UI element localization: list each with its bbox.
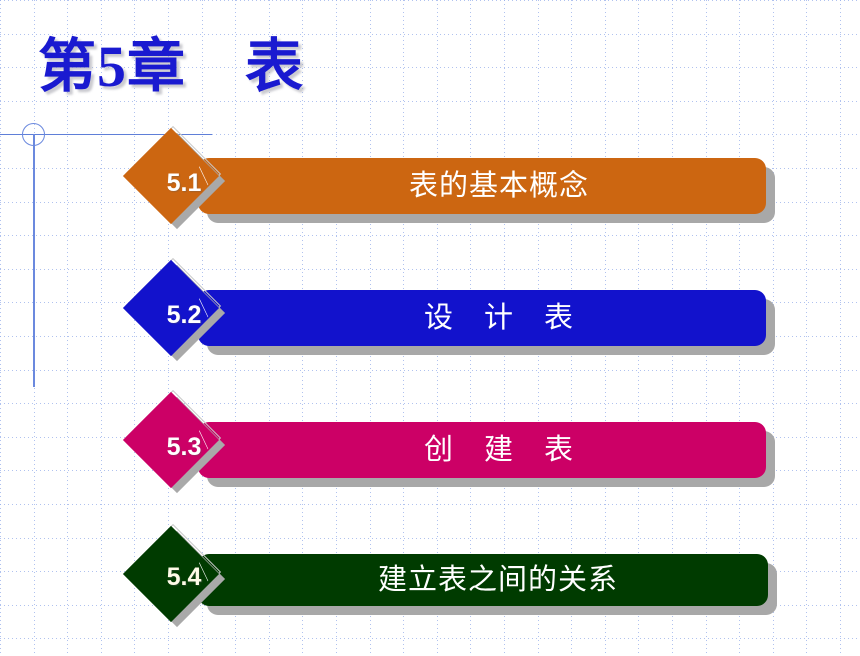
tick-mark-icon: ＼ [198, 563, 209, 583]
section-bar[interactable]: 设 计 表 [198, 290, 766, 346]
section-row[interactable]: 表的基本概念 5.1 ＼ [0, 146, 860, 266]
section-label: 设 计 表 [424, 304, 574, 333]
section-bar[interactable]: 建立表之间的关系 [198, 554, 768, 606]
grid-line-horizontal [0, 538, 860, 539]
section-number: 5.3 [132, 400, 228, 496]
section-bar[interactable]: 表的基本概念 [198, 158, 766, 214]
grid-line-horizontal [0, 0, 860, 1]
section-row[interactable]: 建立表之间的关系 5.4 ＼ [0, 544, 860, 656]
section-row[interactable]: 设 计 表 5.2 ＼ [0, 278, 860, 398]
section-number: 5.2 [132, 268, 228, 364]
section-label: 创 建 表 [424, 436, 574, 465]
section-badge[interactable]: 5.4 ＼ [132, 534, 228, 630]
tick-mark-icon: ＼ [198, 299, 209, 319]
slide-canvas: 第5章 表 表的基本概念 5.1 ＼ 设 计 表 5.2 ＼ 创 建 [0, 0, 860, 656]
section-badge[interactable]: 5.1 ＼ [132, 136, 228, 232]
section-bar[interactable]: 创 建 表 [198, 422, 766, 478]
section-number: 5.4 [132, 534, 228, 630]
grid-line-horizontal [0, 403, 860, 404]
section-number: 5.1 [132, 136, 228, 232]
tick-mark-icon: ＼ [198, 167, 209, 187]
section-badge[interactable]: 5.2 ＼ [132, 268, 228, 364]
tick-mark-icon: ＼ [198, 431, 209, 451]
section-badge[interactable]: 5.3 ＼ [132, 400, 228, 496]
grid-line-horizontal [0, 101, 860, 102]
page-title: 第5章 表 [38, 38, 304, 96]
grid-line-horizontal [0, 269, 860, 270]
circle-outline-icon [22, 123, 45, 146]
section-label: 建立表之间的关系 [378, 566, 618, 595]
section-row[interactable]: 创 建 表 5.3 ＼ [0, 410, 860, 530]
section-label: 表的基本概念 [409, 172, 589, 201]
